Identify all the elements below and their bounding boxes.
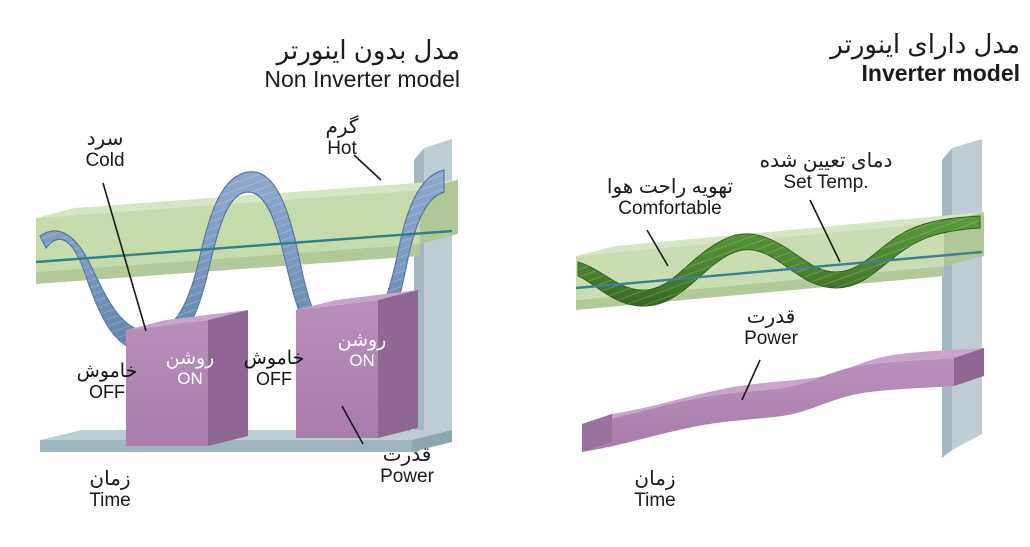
label-power-left-en: Power bbox=[352, 466, 462, 487]
label-set-temp-en: Set Temp. bbox=[746, 172, 906, 193]
label-power-right-fa: قدرت bbox=[716, 306, 826, 328]
label-time-left-en: Time bbox=[55, 490, 165, 511]
label-comfortable-fa: تهویه راحت هوا bbox=[580, 176, 760, 198]
label-cold-fa: سرد bbox=[50, 128, 160, 150]
label-hot-fa: گرم bbox=[292, 116, 392, 138]
label-time-right-en: Time bbox=[600, 490, 710, 511]
label-power-right: قدرت Power bbox=[716, 306, 826, 350]
inverter-graphic bbox=[520, 0, 1030, 547]
back-wall bbox=[942, 139, 982, 458]
label-off-2-en: OFF bbox=[219, 369, 329, 389]
label-on-2-en: ON bbox=[312, 351, 412, 370]
label-power-left: قدرت Power bbox=[352, 444, 462, 488]
label-power-left-fa: قدرت bbox=[352, 444, 462, 466]
label-time-left: زمان Time bbox=[55, 468, 165, 512]
inverter-panel: مدل دارای اینورتر Inverter model bbox=[520, 0, 1030, 547]
label-hot-en: Hot bbox=[292, 138, 392, 159]
non-inverter-panel: مدل بدون اینورتر Non Inverter model bbox=[0, 0, 500, 547]
label-cold: سرد Cold bbox=[50, 128, 160, 172]
label-time-right: زمان Time bbox=[600, 468, 710, 512]
label-set-temp: دمای تعیین شده Set Temp. bbox=[746, 150, 906, 194]
label-power-right-en: Power bbox=[716, 328, 826, 349]
power-slab-inverter bbox=[582, 348, 984, 452]
label-comfortable-en: Comfortable bbox=[580, 198, 760, 219]
label-on-2: روشن ON bbox=[312, 330, 412, 370]
label-on-2-fa: روشن bbox=[312, 330, 412, 351]
label-hot: گرم Hot bbox=[292, 116, 392, 160]
label-comfortable: تهویه راحت هوا Comfortable bbox=[580, 176, 760, 220]
label-time-right-fa: زمان bbox=[600, 468, 710, 490]
label-time-left-fa: زمان bbox=[55, 468, 165, 490]
label-cold-en: Cold bbox=[50, 150, 160, 171]
label-set-temp-fa: دمای تعیین شده bbox=[746, 150, 906, 172]
